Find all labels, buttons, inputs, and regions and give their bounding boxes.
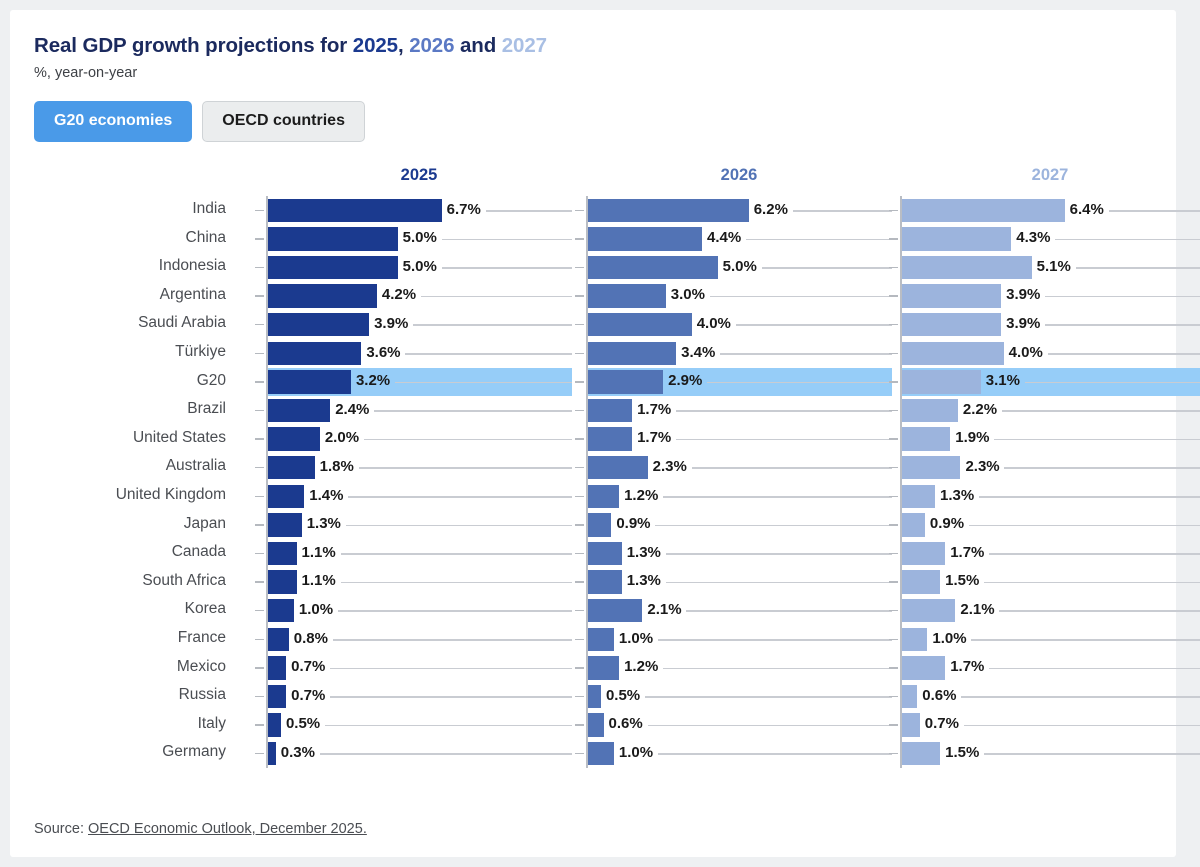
axis-tick (255, 210, 264, 212)
axis-tick (575, 524, 584, 526)
bar-2026[interactable] (588, 570, 622, 594)
bar-value-label: 1.2% (624, 658, 658, 675)
axis-tick (575, 639, 584, 641)
bar-2027[interactable] (902, 427, 950, 451)
axis-tick (889, 267, 898, 269)
axis-tick (255, 238, 264, 240)
axis-tick (575, 553, 584, 555)
gridline (421, 296, 572, 298)
bar-2027[interactable] (902, 456, 960, 480)
axis-tick (889, 438, 898, 440)
bar-value-label: 2.0% (325, 429, 359, 446)
axis-tick (255, 524, 264, 526)
column-header-2027: 2027 (900, 166, 1200, 185)
gridline (746, 239, 892, 241)
category-label: Brazil (34, 400, 226, 418)
tab-oecd-countries[interactable]: OECD countries (202, 101, 365, 142)
bar-2026[interactable] (588, 628, 614, 652)
bar-value-label: 1.7% (950, 658, 984, 675)
category-label: France (34, 629, 226, 647)
gridline (648, 725, 892, 727)
axis-tick (575, 610, 584, 612)
bar-2027[interactable] (902, 742, 940, 766)
chart-card: Real GDP growth projections for 2025, 20… (10, 10, 1176, 857)
category-label: Mexico (34, 658, 226, 676)
bar-value-label: 4.0% (697, 315, 731, 332)
axis-tick (889, 524, 898, 526)
gridline (359, 467, 572, 469)
bar-2026[interactable] (588, 656, 619, 680)
gridline (793, 210, 892, 212)
bar-value-label: 2.1% (647, 601, 681, 618)
source-prefix: Source: (34, 821, 88, 837)
chart-row: Canada1.1%1.3%1.7% (34, 539, 1160, 568)
bar-2025[interactable] (268, 456, 315, 480)
chart-row: Saudi Arabia3.9%4.0%3.9% (34, 310, 1160, 339)
bar-2027[interactable] (902, 656, 945, 680)
axis-tick (575, 267, 584, 269)
gridline (1076, 267, 1200, 269)
gridline (333, 639, 572, 641)
gridline (736, 324, 892, 326)
axis-tick (575, 381, 584, 383)
axis-tick (889, 639, 898, 641)
title-year-2026: 2026 (409, 34, 454, 57)
bar-2027[interactable] (902, 370, 981, 394)
tab-g20-economies[interactable]: G20 economies (34, 101, 192, 142)
bar-value-label: 1.1% (302, 544, 336, 561)
category-label: Indonesia (34, 257, 226, 275)
tab-bar: G20 economies OECD countries (34, 101, 1160, 142)
chart-row: Japan1.3%0.9%0.9% (34, 511, 1160, 540)
chart-row: Brazil2.4%1.7%2.2% (34, 396, 1160, 425)
bar-2025[interactable] (268, 685, 286, 709)
bar-value-label: 4.3% (1016, 229, 1050, 246)
gridline (330, 668, 572, 670)
axis-tick (575, 410, 584, 412)
bar-value-label: 1.3% (940, 487, 974, 504)
axis-tick (575, 496, 584, 498)
gridline (666, 553, 892, 555)
gridline (658, 753, 892, 755)
bar-2025[interactable] (268, 342, 361, 366)
chart-row: Argentina4.2%3.0%3.9% (34, 282, 1160, 311)
chart-row: South Africa1.1%1.3%1.5% (34, 568, 1160, 597)
axis-tick (889, 410, 898, 412)
axis-tick (255, 324, 264, 326)
bar-value-label: 5.1% (1037, 258, 1071, 275)
category-label: Germany (34, 743, 226, 761)
gridline (1045, 296, 1200, 298)
bar-value-label: 1.7% (637, 401, 671, 418)
bar-2026[interactable] (588, 713, 604, 737)
bar-value-label: 4.4% (707, 229, 741, 246)
chart-row: Mexico0.7%1.2%1.7% (34, 654, 1160, 683)
chart-row: Russia0.7%0.5%0.6% (34, 682, 1160, 711)
bar-2026[interactable] (588, 599, 642, 623)
axis-tick (575, 324, 584, 326)
bar-value-label: 2.2% (963, 401, 997, 418)
bar-2027[interactable] (902, 485, 935, 509)
bar-value-label: 1.3% (627, 544, 661, 561)
bar-value-label: 1.5% (945, 572, 979, 589)
bar-value-label: 6.4% (1070, 201, 1104, 218)
bar-2025[interactable] (268, 199, 442, 223)
bar-value-label: 1.7% (637, 429, 671, 446)
gridline (442, 267, 572, 269)
gridline (676, 410, 892, 412)
bar-2026[interactable] (588, 742, 614, 766)
axis-tick (575, 238, 584, 240)
axis-tick (255, 410, 264, 412)
gridline (710, 296, 892, 298)
gridline (1109, 210, 1200, 212)
bar-2027[interactable] (902, 542, 945, 566)
bar-2026[interactable] (588, 456, 648, 480)
axis-tick (889, 467, 898, 469)
bar-2027[interactable] (902, 713, 920, 737)
bar-2026[interactable] (588, 542, 622, 566)
axis-tick (575, 295, 584, 297)
bar-value-label: 2.4% (335, 401, 369, 418)
gridline (1025, 382, 1200, 384)
axis-tick (575, 210, 584, 212)
bar-value-label: 1.3% (307, 515, 341, 532)
chart-row: Türkiye3.6%3.4%4.0% (34, 339, 1160, 368)
axis-tick (575, 696, 584, 698)
category-label: G20 (34, 372, 226, 390)
bar-value-label: 1.5% (945, 744, 979, 761)
bar-2027[interactable] (902, 399, 958, 423)
bar-value-label: 1.0% (299, 601, 333, 618)
bar-2027[interactable] (902, 313, 1001, 337)
bar-2026[interactable] (588, 199, 749, 223)
gridline (989, 668, 1200, 670)
chart-row: Germany0.3%1.0%1.5% (34, 739, 1160, 768)
chart-row: United Kingdom1.4%1.2%1.3% (34, 482, 1160, 511)
axis-tick (255, 724, 264, 726)
bar-2025[interactable] (268, 485, 304, 509)
axis-tick (255, 267, 264, 269)
gridline (1045, 324, 1200, 326)
bar-2025[interactable] (268, 628, 289, 652)
bar-value-label: 0.5% (606, 687, 640, 704)
axis-tick (255, 581, 264, 583)
bar-2027[interactable] (902, 227, 1011, 251)
axis-tick (889, 324, 898, 326)
gridline (692, 467, 892, 469)
axis-tick (255, 696, 264, 698)
column-header-2025: 2025 (266, 166, 572, 185)
gridline (655, 525, 892, 527)
gridline (405, 353, 572, 355)
bar-2026[interactable] (588, 284, 666, 308)
category-label: China (34, 229, 226, 247)
bar-value-label: 3.9% (374, 315, 408, 332)
bar-value-label: 6.7% (447, 201, 481, 218)
bar-2026[interactable] (588, 685, 601, 709)
gridline (341, 553, 572, 555)
bar-value-label: 0.7% (291, 687, 325, 704)
bar-2025[interactable] (268, 542, 297, 566)
bar-value-label: 3.4% (681, 344, 715, 361)
bar-2027[interactable] (902, 513, 925, 537)
bar-value-label: 4.0% (1009, 344, 1043, 361)
bar-2025[interactable] (268, 599, 294, 623)
category-label: South Africa (34, 572, 226, 590)
axis-tick (575, 724, 584, 726)
gridline (762, 267, 892, 269)
chart-row: India6.7%6.2%6.4% (34, 196, 1160, 225)
gridline (348, 496, 572, 498)
gridline (341, 582, 572, 584)
gridline (1048, 353, 1200, 355)
bar-2027[interactable] (902, 199, 1065, 223)
axis-tick (575, 667, 584, 669)
axis-tick (255, 667, 264, 669)
bar-value-label: 1.1% (302, 572, 336, 589)
bar-2026[interactable] (588, 427, 632, 451)
category-label: Canada (34, 543, 226, 561)
bar-2025[interactable] (268, 313, 369, 337)
bar-2025[interactable] (268, 713, 281, 737)
bar-2026[interactable] (588, 256, 718, 280)
bar-value-label: 6.2% (754, 201, 788, 218)
bar-2025[interactable] (268, 656, 286, 680)
bar-value-label: 2.3% (965, 458, 999, 475)
bar-2026[interactable] (588, 227, 702, 251)
bar-2027[interactable] (902, 628, 927, 652)
gridline (346, 525, 572, 527)
bar-2027[interactable] (902, 599, 955, 623)
bar-value-label: 1.7% (950, 544, 984, 561)
gridline (325, 725, 572, 727)
gridline (320, 753, 572, 755)
bar-2027[interactable] (902, 284, 1001, 308)
axis-tick (889, 295, 898, 297)
bar-value-label: 5.0% (723, 258, 757, 275)
bar-value-label: 0.7% (925, 715, 959, 732)
axis-tick (575, 581, 584, 583)
gridline (658, 639, 892, 641)
bar-2026[interactable] (588, 513, 611, 537)
chart-row: China5.0%4.4%4.3% (34, 225, 1160, 254)
axis-tick (575, 467, 584, 469)
gridline (971, 639, 1200, 641)
axis-tick (255, 381, 264, 383)
bar-2025[interactable] (268, 570, 297, 594)
column-header-row: 202520262027 (34, 166, 1160, 196)
category-label: Japan (34, 515, 226, 533)
category-label: Australia (34, 457, 226, 475)
title-separator-2: and (454, 34, 501, 57)
bar-value-label: 0.6% (609, 715, 643, 732)
axis-tick (575, 353, 584, 355)
title-year-2025: 2025 (353, 34, 398, 57)
gridline (964, 725, 1200, 727)
category-label: Italy (34, 715, 226, 733)
bar-2025[interactable] (268, 256, 398, 280)
bar-value-label: 0.8% (294, 630, 328, 647)
bar-value-label: 1.3% (627, 572, 661, 589)
axis-tick (889, 381, 898, 383)
gridline (707, 382, 892, 384)
bar-value-label: 3.0% (671, 286, 705, 303)
bar-value-label: 0.5% (286, 715, 320, 732)
axis-tick (889, 210, 898, 212)
bar-2026[interactable] (588, 485, 619, 509)
bar-value-label: 5.0% (403, 258, 437, 275)
axis-tick (255, 467, 264, 469)
gridline (1055, 239, 1200, 241)
gridline (338, 610, 572, 612)
chart-row: Indonesia5.0%5.0%5.1% (34, 253, 1160, 282)
bar-2025[interactable] (268, 284, 377, 308)
title-year-2027: 2027 (502, 34, 547, 57)
gridline (645, 696, 892, 698)
gridline (663, 496, 892, 498)
bar-value-label: 1.0% (619, 744, 653, 761)
gridline (663, 668, 892, 670)
axis-tick (889, 581, 898, 583)
gridline (720, 353, 892, 355)
page-background: Real GDP growth projections for 2025, 20… (0, 0, 1200, 867)
axis-tick (255, 496, 264, 498)
axis-tick (889, 553, 898, 555)
gridline (330, 696, 572, 698)
axis-tick (889, 238, 898, 240)
axis-tick (889, 724, 898, 726)
bar-2027[interactable] (902, 342, 1004, 366)
axis-tick (575, 753, 584, 755)
category-label: Argentina (34, 286, 226, 304)
bar-2025[interactable] (268, 227, 398, 251)
source-note: Source: OECD Economic Outlook, December … (34, 821, 367, 837)
gridline (979, 496, 1200, 498)
axis-tick (255, 353, 264, 355)
bar-2027[interactable] (902, 256, 1032, 280)
bar-value-label: 1.2% (624, 487, 658, 504)
category-label: United Kingdom (34, 486, 226, 504)
bar-2026[interactable] (588, 342, 676, 366)
bar-value-label: 3.9% (1006, 286, 1040, 303)
bar-value-label: 0.3% (281, 744, 315, 761)
bar-value-label: 1.8% (320, 458, 354, 475)
bar-value-label: 3.9% (1006, 315, 1040, 332)
bar-value-label: 1.4% (309, 487, 343, 504)
bar-value-label: 2.9% (668, 372, 702, 389)
gridline (1004, 467, 1200, 469)
bar-2026[interactable] (588, 370, 663, 394)
bar-2025[interactable] (268, 427, 320, 451)
bar-value-label: 5.0% (403, 229, 437, 246)
title-separator-1: , (398, 34, 409, 57)
category-label: Russia (34, 686, 226, 704)
category-label: Türkiye (34, 343, 226, 361)
axis-tick (889, 696, 898, 698)
column-header-2026: 2026 (586, 166, 892, 185)
bar-2025[interactable] (268, 513, 302, 537)
bar-2026[interactable] (588, 313, 692, 337)
gridline (395, 382, 572, 384)
gridline (969, 525, 1200, 527)
source-link[interactable]: OECD Economic Outlook, December 2025. (88, 821, 367, 837)
bar-value-label: 3.6% (366, 344, 400, 361)
chart-row: G203.2%2.9%3.1% (34, 368, 1160, 397)
axis-tick (889, 353, 898, 355)
bar-2025[interactable] (268, 399, 330, 423)
gridline (961, 696, 1200, 698)
bar-2025[interactable] (268, 370, 351, 394)
category-label: Saudi Arabia (34, 314, 226, 332)
chart-row: Australia1.8%2.3%2.3% (34, 453, 1160, 482)
axis-tick (889, 753, 898, 755)
category-label: India (34, 200, 226, 218)
axis-tick (889, 667, 898, 669)
title-prefix: Real GDP growth projections for (34, 34, 353, 57)
gridline (994, 439, 1200, 441)
page-title: Real GDP growth projections for 2025, 20… (34, 34, 1160, 58)
chart-plot-area: India6.7%6.2%6.4%China5.0%4.4%4.3%Indone… (34, 196, 1160, 774)
gridline (442, 239, 572, 241)
category-label: United States (34, 429, 226, 447)
gridline (989, 553, 1200, 555)
bar-value-label: 2.1% (960, 601, 994, 618)
axis-tick (255, 610, 264, 612)
axis-tick (889, 496, 898, 498)
gridline (999, 610, 1200, 612)
category-label: Korea (34, 600, 226, 618)
chart-row: France0.8%1.0%1.0% (34, 625, 1160, 654)
bar-value-label: 2.3% (653, 458, 687, 475)
gridline (374, 410, 572, 412)
axis-tick (255, 639, 264, 641)
gridline (666, 582, 892, 584)
bar-value-label: 4.2% (382, 286, 416, 303)
bar-value-label: 1.0% (932, 630, 966, 647)
axis-tick (889, 610, 898, 612)
page-subtitle: %, year-on-year (34, 65, 1160, 81)
gridline (676, 439, 892, 441)
bar-chart: 202520262027 India6.7%6.2%6.4%China5.0%4… (34, 166, 1160, 781)
gridline (486, 210, 572, 212)
bar-value-label: 0.9% (930, 515, 964, 532)
bar-2027[interactable] (902, 570, 940, 594)
axis-tick (575, 438, 584, 440)
bar-2025[interactable] (268, 742, 276, 766)
gridline (413, 324, 572, 326)
bar-value-label: 3.2% (356, 372, 390, 389)
chart-row: Italy0.5%0.6%0.7% (34, 711, 1160, 740)
gridline (984, 582, 1200, 584)
gridline (1002, 410, 1200, 412)
bar-value-label: 0.6% (922, 687, 956, 704)
bar-value-label: 1.9% (955, 429, 989, 446)
gridline (686, 610, 892, 612)
gridline (364, 439, 572, 441)
bar-value-label: 0.9% (616, 515, 650, 532)
axis-tick (255, 753, 264, 755)
bar-value-label: 0.7% (291, 658, 325, 675)
bar-value-label: 1.0% (619, 630, 653, 647)
axis-tick (255, 438, 264, 440)
bar-2026[interactable] (588, 399, 632, 423)
bar-2027[interactable] (902, 685, 917, 709)
bar-value-label: 3.1% (986, 372, 1020, 389)
gridline (984, 753, 1200, 755)
chart-row: United States2.0%1.7%1.9% (34, 425, 1160, 454)
axis-tick (255, 553, 264, 555)
